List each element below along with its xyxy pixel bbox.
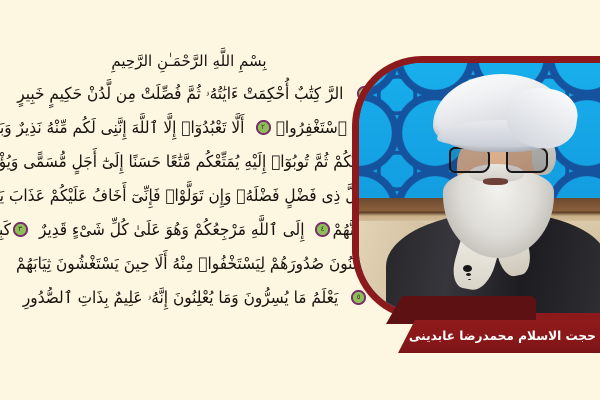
bismillah-line: بِسْمِ اللَّهِ الرَّحْمَـٰنِ الرَّحِيمِ bbox=[0, 48, 378, 74]
ayah-marker-number: ٢ bbox=[256, 120, 271, 135]
ayah-text: الرَّ كِتَٰبٌ أُحْكِمَتْ ءَايَٰتُهُۥ ثُم… bbox=[17, 77, 343, 111]
ayah-text: يَثْنُونَ صُدُورَهُمْ لِيَسْتَخْفُوا۟ مِ… bbox=[16, 247, 362, 281]
ayah-number-marker: ٤ bbox=[315, 222, 330, 237]
poster-canvas: بِسْمِ اللَّهِ الرَّحْمَـٰنِ الرَّحِيمِ … bbox=[0, 0, 600, 400]
ayah-line: ٥ يَعْلَمُ مَا يُسِرُّونَ وَمَا يُعْلِنُ… bbox=[0, 280, 378, 314]
ayah-text: أَلَّا تَعْبُدُوٓا۟ إِلَّا ٱللَّهَ إِنَّ… bbox=[0, 111, 244, 145]
speaker-name-banner: حجت الاسلام محمدرضا عابدینی bbox=[398, 320, 600, 353]
ayah-text: كُلَّ ذِى فَضْلٍ فَضْلَهُۥ وَإِن تَوَلَّ… bbox=[0, 179, 364, 213]
ayah-line: ١ الرَّ كِتَٰبٌ أُحْكِمَتْ ءَايَٰتُهُۥ ث… bbox=[0, 76, 378, 110]
ayah-number-marker: ٣ bbox=[13, 222, 28, 237]
speaker-name: حجت الاسلام محمدرضا عابدینی bbox=[409, 330, 596, 343]
ayah-text: كَبِيرٍ bbox=[0, 213, 11, 247]
quran-text-block: بِسْمِ اللَّهِ الرَّحْمَـٰنِ الرَّحِيمِ … bbox=[0, 48, 378, 338]
ayah-text: رَبَّكُمْ ثُمَّ تُوبُوٓا۟ إِلَيْهِ يُمَت… bbox=[0, 145, 364, 179]
ayah-number-marker: ٢ bbox=[256, 120, 271, 135]
speaker-photo-card bbox=[352, 56, 600, 320]
ayah-marker-number: ٤ bbox=[315, 222, 330, 237]
ayah-line: كُلَّ ذِى فَضْلٍ فَضْلَهُۥ وَإِن تَوَلَّ… bbox=[0, 178, 378, 212]
ribbon-fold-shadow bbox=[386, 296, 536, 324]
ayah-line: وَأَنِ ٱسْتَغْفِرُوا۟ ٢ أَلَّا تَعْبُدُو… bbox=[0, 110, 378, 144]
ayah-line: رَبَّكُمْ ثُمَّ تُوبُوٓا۟ إِلَيْهِ يُمَت… bbox=[0, 144, 378, 178]
speaker-figure bbox=[398, 83, 596, 313]
ayah-text: يَعْلَمُ مَا يُسِرُّونَ وَمَا يُعْلِنُون… bbox=[23, 281, 338, 315]
mouth bbox=[483, 178, 509, 185]
ayah-text-middle: إِلَى ٱللَّهِ مَرْجِعُكُمْ وَهُوَ عَلَىٰ… bbox=[39, 213, 304, 247]
ayah-line: أَلَا إِنَّهُمْ ٤ إِلَى ٱللَّهِ مَرْجِعُ… bbox=[0, 212, 378, 246]
ayah-marker-number: ٣ bbox=[13, 222, 28, 237]
ayah-lines: ١ الرَّ كِتَٰبٌ أُحْكِمَتْ ءَايَٰتُهُۥ ث… bbox=[0, 76, 378, 314]
lapel-microphone-icon bbox=[463, 265, 472, 272]
ayah-line: يَثْنُونَ صُدُورَهُمْ لِيَسْتَخْفُوا۟ مِ… bbox=[0, 246, 378, 280]
